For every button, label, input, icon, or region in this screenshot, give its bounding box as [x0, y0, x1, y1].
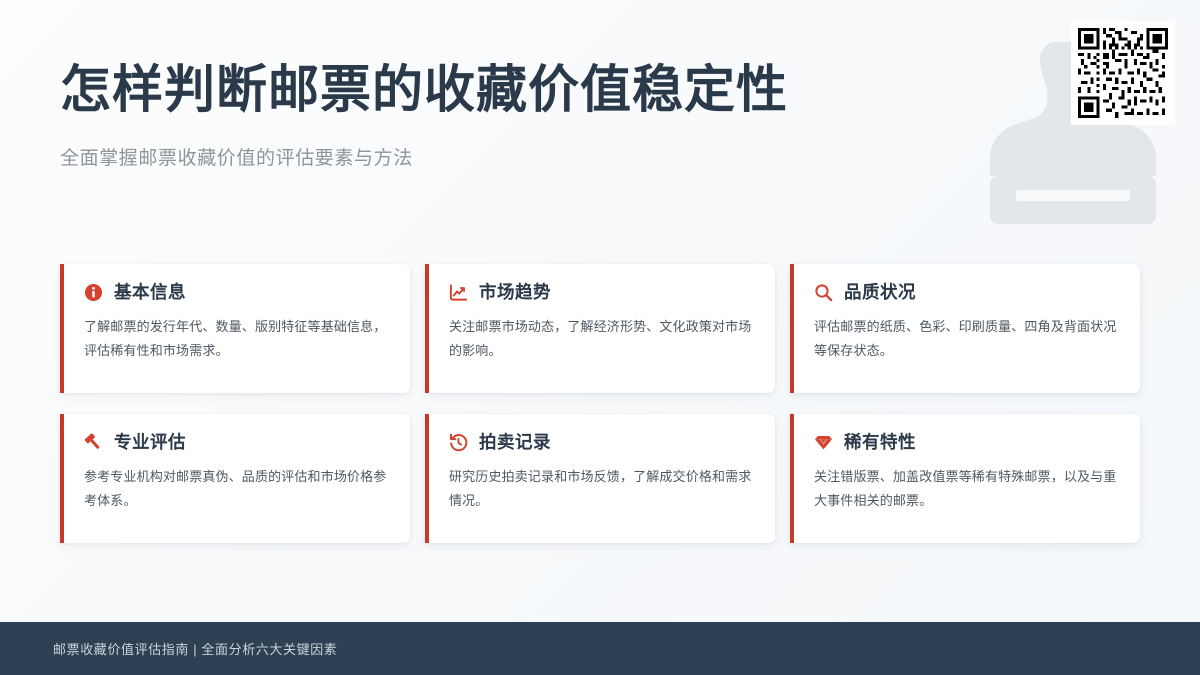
card-description: 关注邮票市场动态，了解经济形势、文化政策对市场的影响。 [449, 315, 753, 363]
card-rarity-traits[interactable]: 稀有特性 关注错版票、加盖改值票等稀有特殊邮票，以及与重大事件相关的邮票。 [790, 414, 1140, 543]
page-subtitle: 全面掌握邮票收藏价值的评估要素与方法 [60, 143, 788, 170]
card-title: 稀有特性 [844, 434, 916, 452]
card-header: 市场趋势 [449, 283, 753, 302]
footer-text: 邮票收藏价值评估指南 | 全面分析六大关键因素 [53, 639, 337, 658]
card-header: 稀有特性 [814, 433, 1118, 452]
card-description: 研究历史拍卖记录和市场反馈，了解成交价格和需求情况。 [449, 465, 753, 513]
history-clock-icon [449, 433, 468, 452]
card-basic-info[interactable]: 基本信息 了解邮票的发行年代、数量、版别特征等基础信息，评估稀有性和市场需求。 [60, 264, 410, 393]
card-title: 品质状况 [844, 284, 916, 302]
page-title: 怎样判断邮票的收藏价值稳定性 [60, 62, 788, 121]
factor-cards-grid: 基本信息 了解邮票的发行年代、数量、版别特征等基础信息，评估稀有性和市场需求。 … [60, 264, 1140, 543]
card-description: 评估邮票的纸质、色彩、印刷质量、四角及背面状况等保存状态。 [814, 315, 1118, 363]
card-quality-condition[interactable]: 品质状况 评估邮票的纸质、色彩、印刷质量、四角及背面状况等保存状态。 [790, 264, 1140, 393]
page-header: 怎样判断邮票的收藏价值稳定性 全面掌握邮票收藏价值的评估要素与方法 [60, 62, 788, 170]
info-circle-icon [84, 283, 103, 302]
card-title: 市场趋势 [479, 284, 551, 302]
card-description: 参考专业机构对邮票真伪、品质的评估和市场价格参考体系。 [84, 465, 388, 513]
qr-code[interactable] [1071, 21, 1175, 125]
card-title: 拍卖记录 [479, 434, 551, 452]
card-header: 拍卖记录 [449, 433, 753, 452]
gem-icon [814, 433, 833, 452]
card-auction-records[interactable]: 拍卖记录 研究历史拍卖记录和市场反馈，了解成交价格和需求情况。 [425, 414, 775, 543]
card-header: 品质状况 [814, 283, 1118, 302]
card-market-trend[interactable]: 市场趋势 关注邮票市场动态，了解经济形势、文化政策对市场的影响。 [425, 264, 775, 393]
card-description: 了解邮票的发行年代、数量、版别特征等基础信息，评估稀有性和市场需求。 [84, 315, 388, 363]
gavel-icon [84, 433, 103, 452]
card-title: 专业评估 [114, 434, 186, 452]
card-title: 基本信息 [114, 284, 186, 302]
chart-line-icon [449, 283, 468, 302]
magnifier-icon [814, 283, 833, 302]
card-description: 关注错版票、加盖改值票等稀有特殊邮票，以及与重大事件相关的邮票。 [814, 465, 1118, 513]
card-header: 基本信息 [84, 283, 388, 302]
page-footer: 邮票收藏价值评估指南 | 全面分析六大关键因素 [0, 622, 1200, 675]
card-header: 专业评估 [84, 433, 388, 452]
card-professional-appraisal[interactable]: 专业评估 参考专业机构对邮票真伪、品质的评估和市场价格参考体系。 [60, 414, 410, 543]
